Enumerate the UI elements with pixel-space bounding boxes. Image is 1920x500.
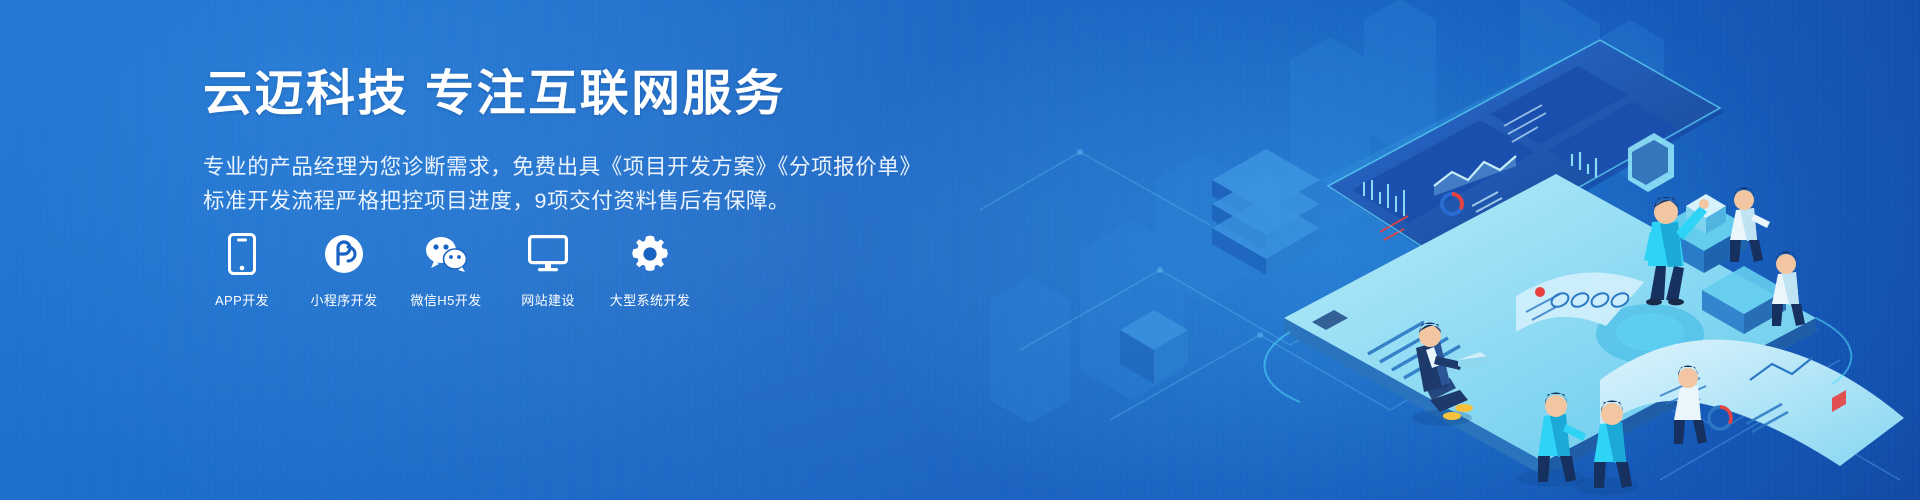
- service-label-mini-program: 小程序开发: [310, 290, 377, 309]
- service-item-large-system[interactable]: 大型系统开发: [611, 232, 689, 309]
- service-label-wechat: 微信H5开发: [410, 290, 481, 309]
- service-item-mini-program[interactable]: 小程序开发: [305, 232, 383, 309]
- service-item-wechat[interactable]: 微信H5开发: [407, 232, 485, 309]
- subtitle-line-1: 专业的产品经理为您诊断需求，免费出具《项目开发方案》《分项报价单》: [203, 150, 903, 184]
- service-item-app[interactable]: APP开发: [203, 232, 281, 309]
- subtitle-line-2: 标准开发流程严格把控项目进度，9项交付资料售后有保障。: [203, 184, 903, 218]
- mini-program-icon: [322, 232, 366, 276]
- service-label-large-system: 大型系统开发: [610, 290, 690, 309]
- service-label-app: APP开发: [215, 290, 269, 309]
- wechat-icon: [424, 232, 468, 276]
- hero-banner: 云迈科技 专注互联网服务 专业的产品经理为您诊断需求，免费出具《项目开发方案》《…: [0, 0, 1920, 500]
- banner-subtitle: 专业的产品经理为您诊断需求，免费出具《项目开发方案》《分项报价单》 标准开发流程…: [203, 150, 903, 218]
- isometric-tech-illustration: [960, 0, 1920, 500]
- service-label-website: 网站建设: [521, 290, 575, 309]
- banner-headline: 云迈科技 专注互联网服务: [203, 66, 903, 124]
- banner-copy: 云迈科技 专注互联网服务 专业的产品经理为您诊断需求，免费出具《项目开发方案》《…: [203, 66, 903, 218]
- gear-icon: [628, 232, 672, 276]
- mobile-phone-icon: [220, 232, 264, 276]
- service-list: APP开发 小程序开发: [203, 232, 689, 309]
- monitor-icon: [526, 232, 570, 276]
- service-item-website[interactable]: 网站建设: [509, 232, 587, 309]
